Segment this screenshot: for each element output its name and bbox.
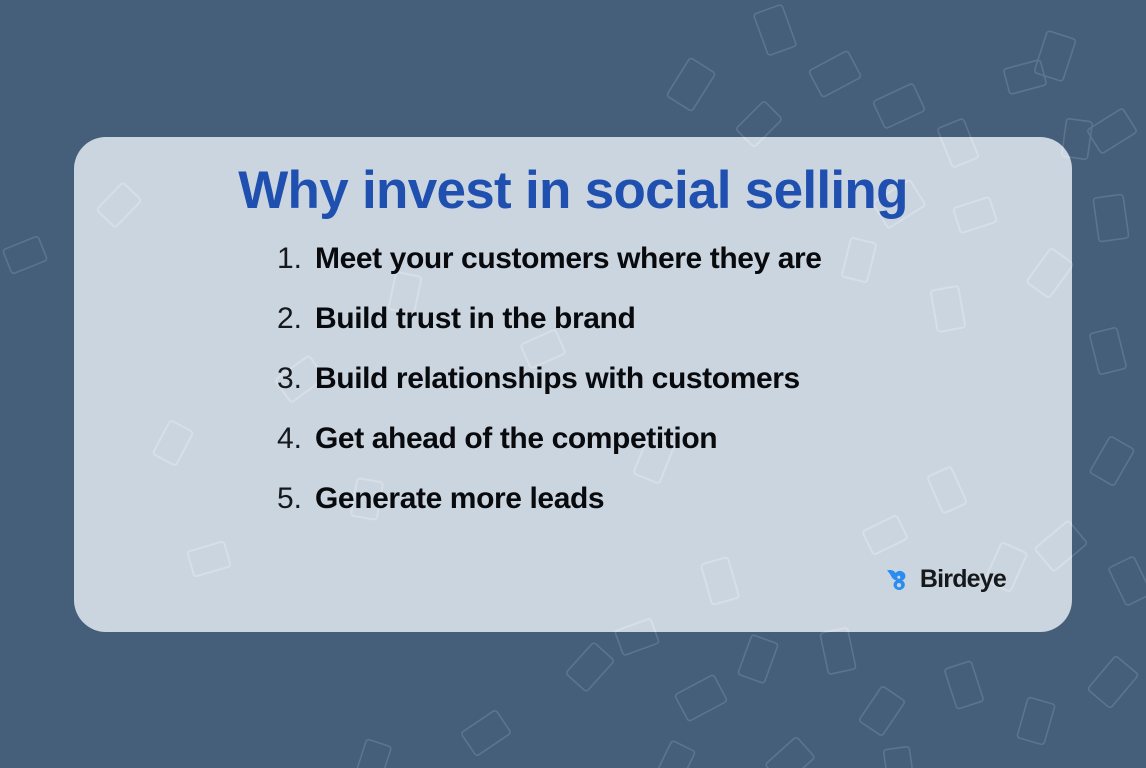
list-item: 5.Generate more leads [277,482,822,542]
pattern-rect [354,739,391,768]
list-item: 3.Build relationships with customers [277,362,822,422]
pattern-rect [461,710,511,757]
list-item-number: 4. [277,422,315,456]
list-item-label: Build trust in the brand [315,302,635,336]
page-title: Why invest in social selling [74,161,1072,220]
pattern-rect [1017,697,1055,745]
card-content: Why invest in social selling 1.Meet your… [74,137,1072,632]
list-item-label: Build relationships with customers [315,362,800,396]
list-item-number: 2. [277,302,315,336]
pattern-rect [675,674,728,721]
list-item-label: Meet your customers where they are [315,242,822,276]
pattern-rect [1087,108,1137,154]
pattern-rect [944,661,984,710]
pattern-rect [3,236,48,274]
list-item: 4.Get ahead of the competition [277,422,822,482]
pattern-rect [1089,327,1126,375]
pattern-rect [753,4,796,56]
pattern-rect [655,740,696,768]
pattern-rect [809,50,862,97]
brand-name: Birdeye [920,567,1006,592]
pattern-rect [859,686,906,736]
pattern-rect [1089,436,1134,486]
pattern-rect [566,642,615,692]
pattern-rect [1034,30,1076,81]
list-item-label: Get ahead of the competition [315,422,717,456]
list-item-number: 1. [277,242,315,276]
pattern-rect [666,57,715,111]
list-item: 1.Meet your customers where they are [277,242,822,302]
list-item: 2.Build trust in the brand [277,302,822,362]
pattern-rect [1108,556,1146,606]
pattern-rect [873,83,926,129]
pattern-rect [765,737,815,768]
pattern-rect [883,746,914,768]
content-card: Why invest in social selling 1.Meet your… [74,137,1072,632]
bird-icon [885,568,913,592]
pattern-rect [1093,194,1129,242]
pattern-rect [738,634,779,683]
benefit-list: 1.Meet your customers where they are2.Bu… [277,242,822,542]
pattern-rect [1087,656,1138,709]
list-item-number: 5. [277,482,315,516]
list-item-label: Generate more leads [315,482,604,516]
pattern-rect [820,628,856,675]
list-item-number: 3. [277,362,315,396]
pattern-rect [1003,60,1046,95]
brand-logo: Birdeye [885,567,1006,592]
